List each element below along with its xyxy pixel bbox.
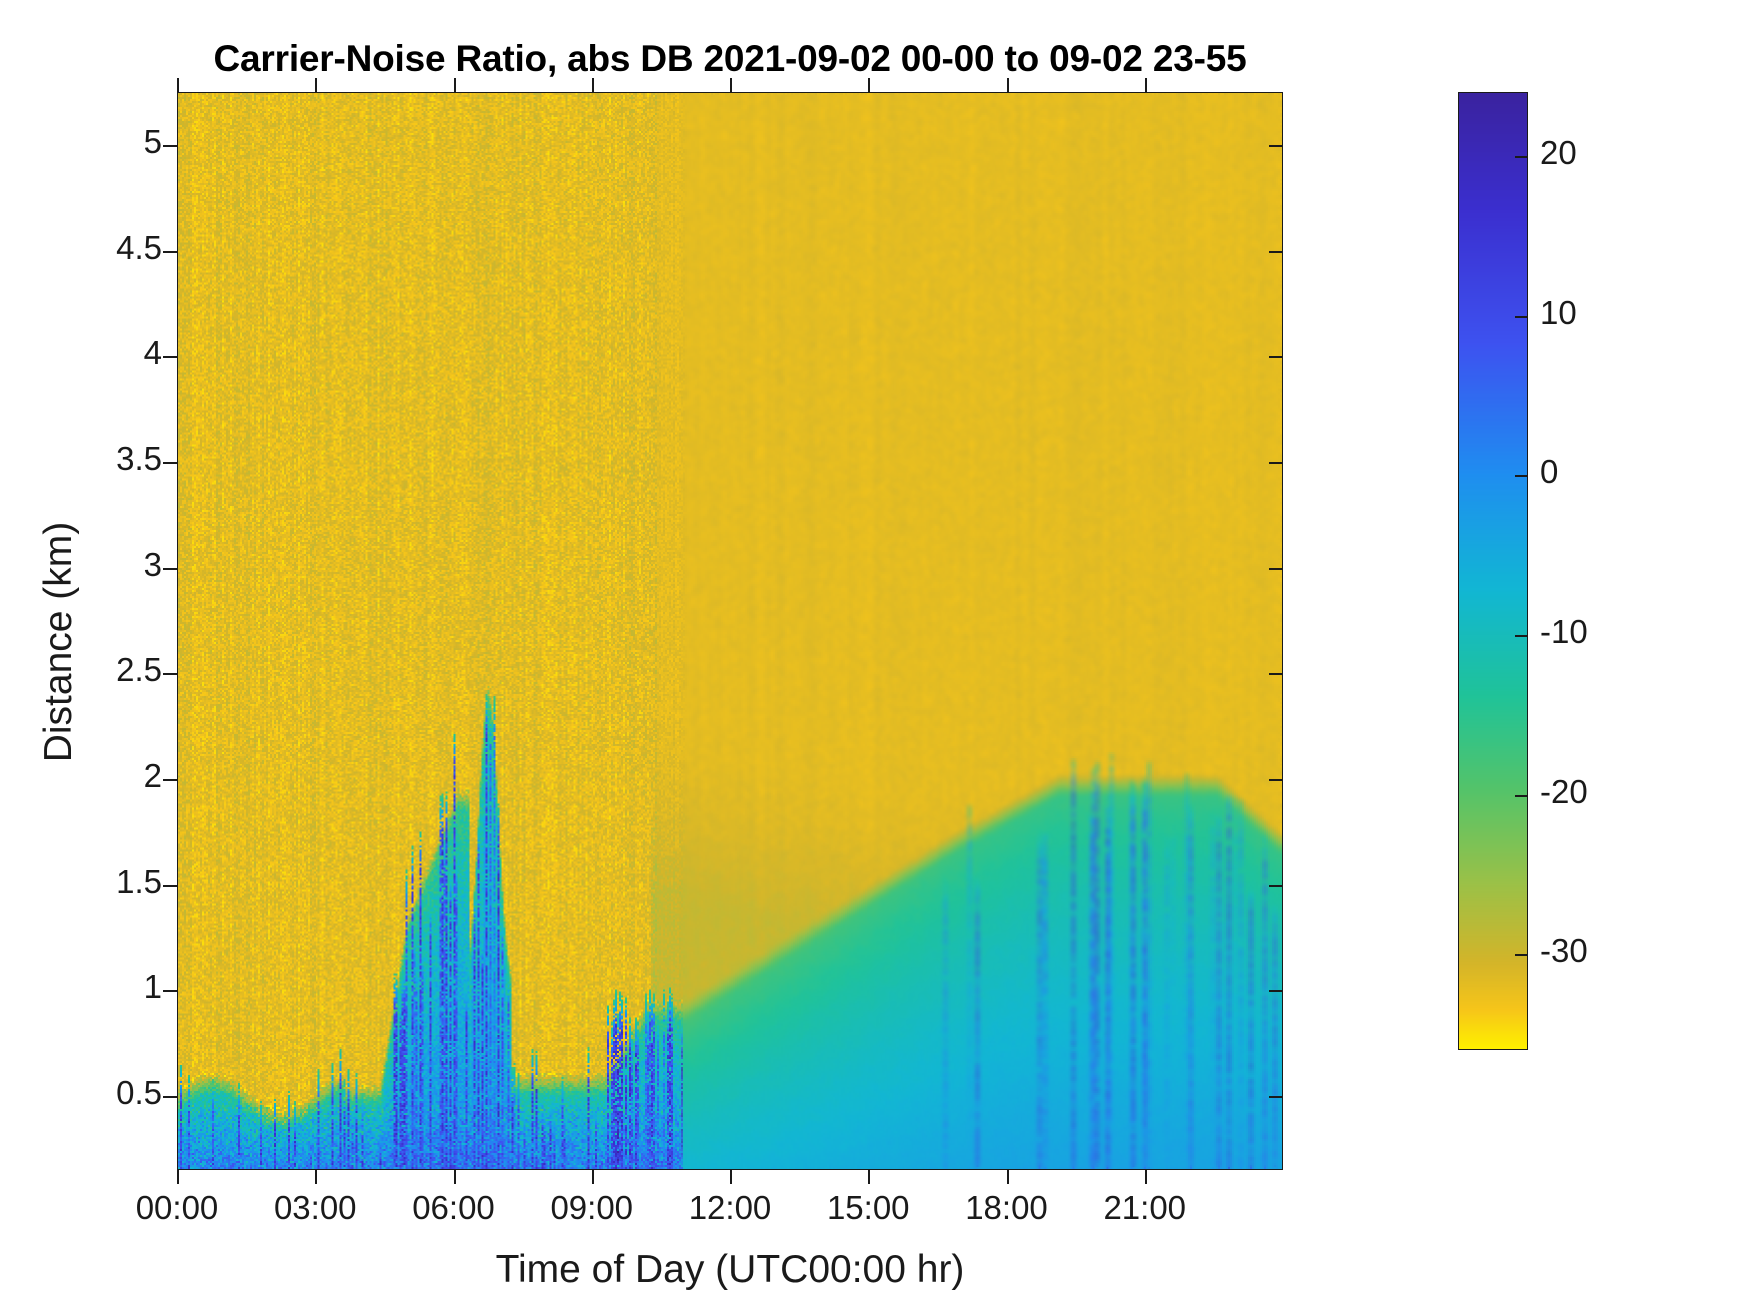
colorbar-tick	[1515, 156, 1528, 158]
y-axis-tick-right	[1269, 885, 1283, 887]
colorbar-tick-label: 20	[1540, 134, 1577, 172]
x-axis-tick-top	[592, 78, 594, 92]
y-axis-tick-label: 0.5	[116, 1074, 162, 1112]
y-axis-tick	[163, 251, 177, 253]
y-axis-tick-label: 3.5	[116, 440, 162, 478]
y-axis-tick	[163, 1096, 177, 1098]
colorbar-gradient	[1459, 93, 1527, 1049]
y-axis-tick-right	[1269, 462, 1283, 464]
x-axis-label: Time of Day (UTC00:00 hr)	[177, 1248, 1283, 1292]
y-axis-tick-label: 3	[144, 546, 162, 584]
colorbar-tick	[1515, 954, 1528, 956]
colorbar-tick-label: 10	[1540, 294, 1577, 332]
x-axis-tick	[868, 1170, 870, 1184]
y-axis-tick-right	[1269, 251, 1283, 253]
x-axis-tick	[454, 1170, 456, 1184]
y-axis-tick-right	[1269, 673, 1283, 675]
y-axis-tick-right	[1269, 779, 1283, 781]
x-axis-tick-top	[1145, 78, 1147, 92]
y-axis-tick	[163, 462, 177, 464]
y-axis-tick-label: 4.5	[116, 229, 162, 267]
x-axis-tick-label: 12:00	[689, 1189, 772, 1227]
x-axis-tick	[1007, 1170, 1009, 1184]
x-axis-tick-label: 15:00	[827, 1189, 910, 1227]
colorbar-tick-label: -10	[1540, 613, 1588, 651]
colorbar-tick	[1515, 316, 1528, 318]
y-axis-tick	[163, 779, 177, 781]
y-axis-tick-label: 1.5	[116, 863, 162, 901]
y-axis-label: Distance (km)	[37, 103, 81, 1181]
y-axis-tick-right	[1269, 1096, 1283, 1098]
page-title: Carrier-Noise Ratio, abs DB 2021-09-02 0…	[177, 38, 1283, 80]
x-axis-tick	[730, 1170, 732, 1184]
x-axis-tick-top	[730, 78, 732, 92]
x-axis-tick	[315, 1170, 317, 1184]
y-axis-tick-right	[1269, 356, 1283, 358]
x-axis-tick	[592, 1170, 594, 1184]
colorbar-tick-label: -20	[1540, 773, 1588, 811]
x-axis-tick-label: 00:00	[136, 1189, 219, 1227]
y-axis-tick-label: 1	[144, 968, 162, 1006]
y-axis-tick	[163, 885, 177, 887]
x-axis-tick-top	[177, 78, 179, 92]
y-axis-tick	[163, 990, 177, 992]
figure-canvas: Carrier-Noise Ratio, abs DB 2021-09-02 0…	[0, 0, 1750, 1313]
x-axis-tick-label: 03:00	[274, 1189, 357, 1227]
colorbar-tick	[1515, 635, 1528, 637]
y-axis-tick-label: 2	[144, 757, 162, 795]
x-axis-tick-label: 21:00	[1103, 1189, 1186, 1227]
x-axis-tick-top	[315, 78, 317, 92]
y-axis-tick-label: 5	[144, 123, 162, 161]
x-axis-tick-top	[1007, 78, 1009, 92]
x-axis-tick-top	[868, 78, 870, 92]
colorbar-tick-label: -30	[1540, 932, 1588, 970]
y-axis-tick	[163, 673, 177, 675]
colorbar-label: Carrier Noise, dB	[1744, 242, 1750, 942]
x-axis-tick	[177, 1170, 179, 1184]
x-axis-tick-label: 09:00	[550, 1189, 633, 1227]
colorbar[interactable]	[1458, 92, 1528, 1050]
x-axis-tick-top	[454, 78, 456, 92]
y-axis-tick-right	[1269, 990, 1283, 992]
heatmap-plot-area[interactable]	[177, 92, 1283, 1170]
y-axis-tick-right	[1269, 568, 1283, 570]
y-axis-tick	[163, 568, 177, 570]
y-axis-tick	[163, 145, 177, 147]
y-axis-tick	[163, 356, 177, 358]
y-axis-tick-label: 4	[144, 334, 162, 372]
x-axis-tick-label: 06:00	[412, 1189, 495, 1227]
colorbar-tick	[1515, 475, 1528, 477]
x-axis-tick-label: 18:00	[965, 1189, 1048, 1227]
y-axis-tick-label: 2.5	[116, 651, 162, 689]
y-axis-tick-right	[1269, 145, 1283, 147]
colorbar-tick-label: 0	[1540, 453, 1558, 491]
colorbar-tick	[1515, 795, 1528, 797]
x-axis-tick	[1145, 1170, 1147, 1184]
heatmap-image	[178, 93, 1282, 1169]
